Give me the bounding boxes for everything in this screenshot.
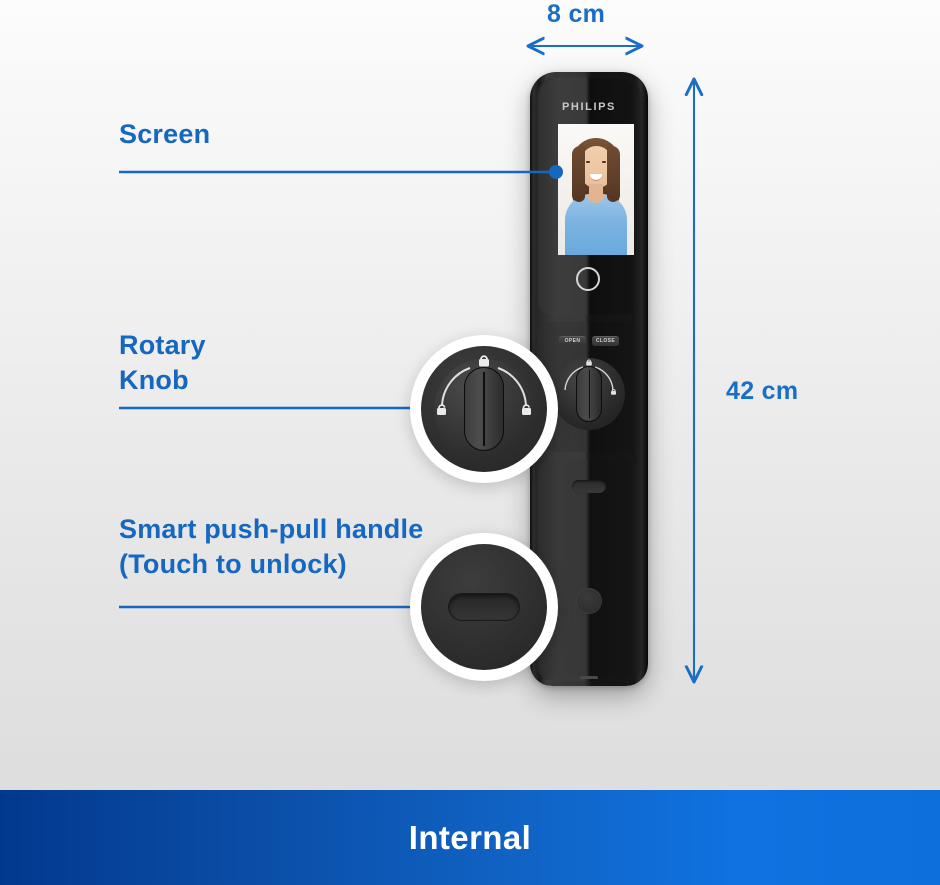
magnifier-push-pull-handle bbox=[410, 533, 558, 681]
lock-closed-icon bbox=[479, 356, 489, 366]
user-portrait-photo bbox=[558, 124, 634, 255]
callout-label-rotary-knob: Rotary Knob bbox=[119, 328, 206, 398]
lock-open-icon-left bbox=[437, 405, 446, 415]
height-dimension-label: 42 cm bbox=[726, 377, 798, 406]
open-close-button-row: OPEN CLOSE bbox=[538, 336, 640, 346]
camera-sensor-ring bbox=[576, 267, 600, 291]
bottom-banner: Internal bbox=[0, 790, 940, 885]
portrait-eye-right bbox=[602, 161, 606, 163]
lock-open-icon-right bbox=[522, 405, 531, 415]
portrait-eye-left bbox=[586, 161, 590, 163]
portrait-hair-strand-left bbox=[572, 146, 585, 202]
touch-to-unlock-pad[interactable] bbox=[572, 480, 606, 493]
device-screen bbox=[558, 124, 634, 255]
close-button[interactable]: CLOSE bbox=[592, 336, 619, 346]
callout-label-screen: Screen bbox=[119, 117, 210, 152]
callout-label-push-pull-handle: Smart push-pull handle (Touch to unlock) bbox=[119, 512, 423, 582]
magnified-knob-grip bbox=[464, 367, 504, 451]
magnifier-push-pull-handle-content bbox=[421, 544, 547, 670]
device-handle-module bbox=[538, 460, 640, 676]
philips-brand-logo: PHILIPS bbox=[538, 101, 640, 113]
portrait-hair-strand-right bbox=[607, 146, 620, 202]
rotary-knob-grip[interactable] bbox=[576, 366, 602, 422]
magnifier-rotary-knob bbox=[410, 335, 558, 483]
product-diagram: 8 cm 42 cm Screen Rotary Knob Smart push… bbox=[0, 0, 940, 885]
magnified-touch-pad bbox=[448, 593, 520, 621]
open-button[interactable]: OPEN bbox=[559, 336, 586, 346]
handle-lower-circle bbox=[576, 588, 602, 614]
lock-closed-icon bbox=[586, 360, 592, 366]
banner-title: Internal bbox=[409, 819, 531, 857]
magnifier-rotary-knob-content bbox=[421, 346, 547, 472]
width-dimension-label: 8 cm bbox=[547, 0, 605, 29]
handle-bottom-slot bbox=[580, 676, 598, 679]
rotary-knob[interactable] bbox=[553, 358, 625, 430]
device-top-module: PHILIPS bbox=[538, 79, 640, 315]
portrait-shirt bbox=[565, 194, 627, 255]
lock-open-icon-right bbox=[611, 390, 616, 395]
